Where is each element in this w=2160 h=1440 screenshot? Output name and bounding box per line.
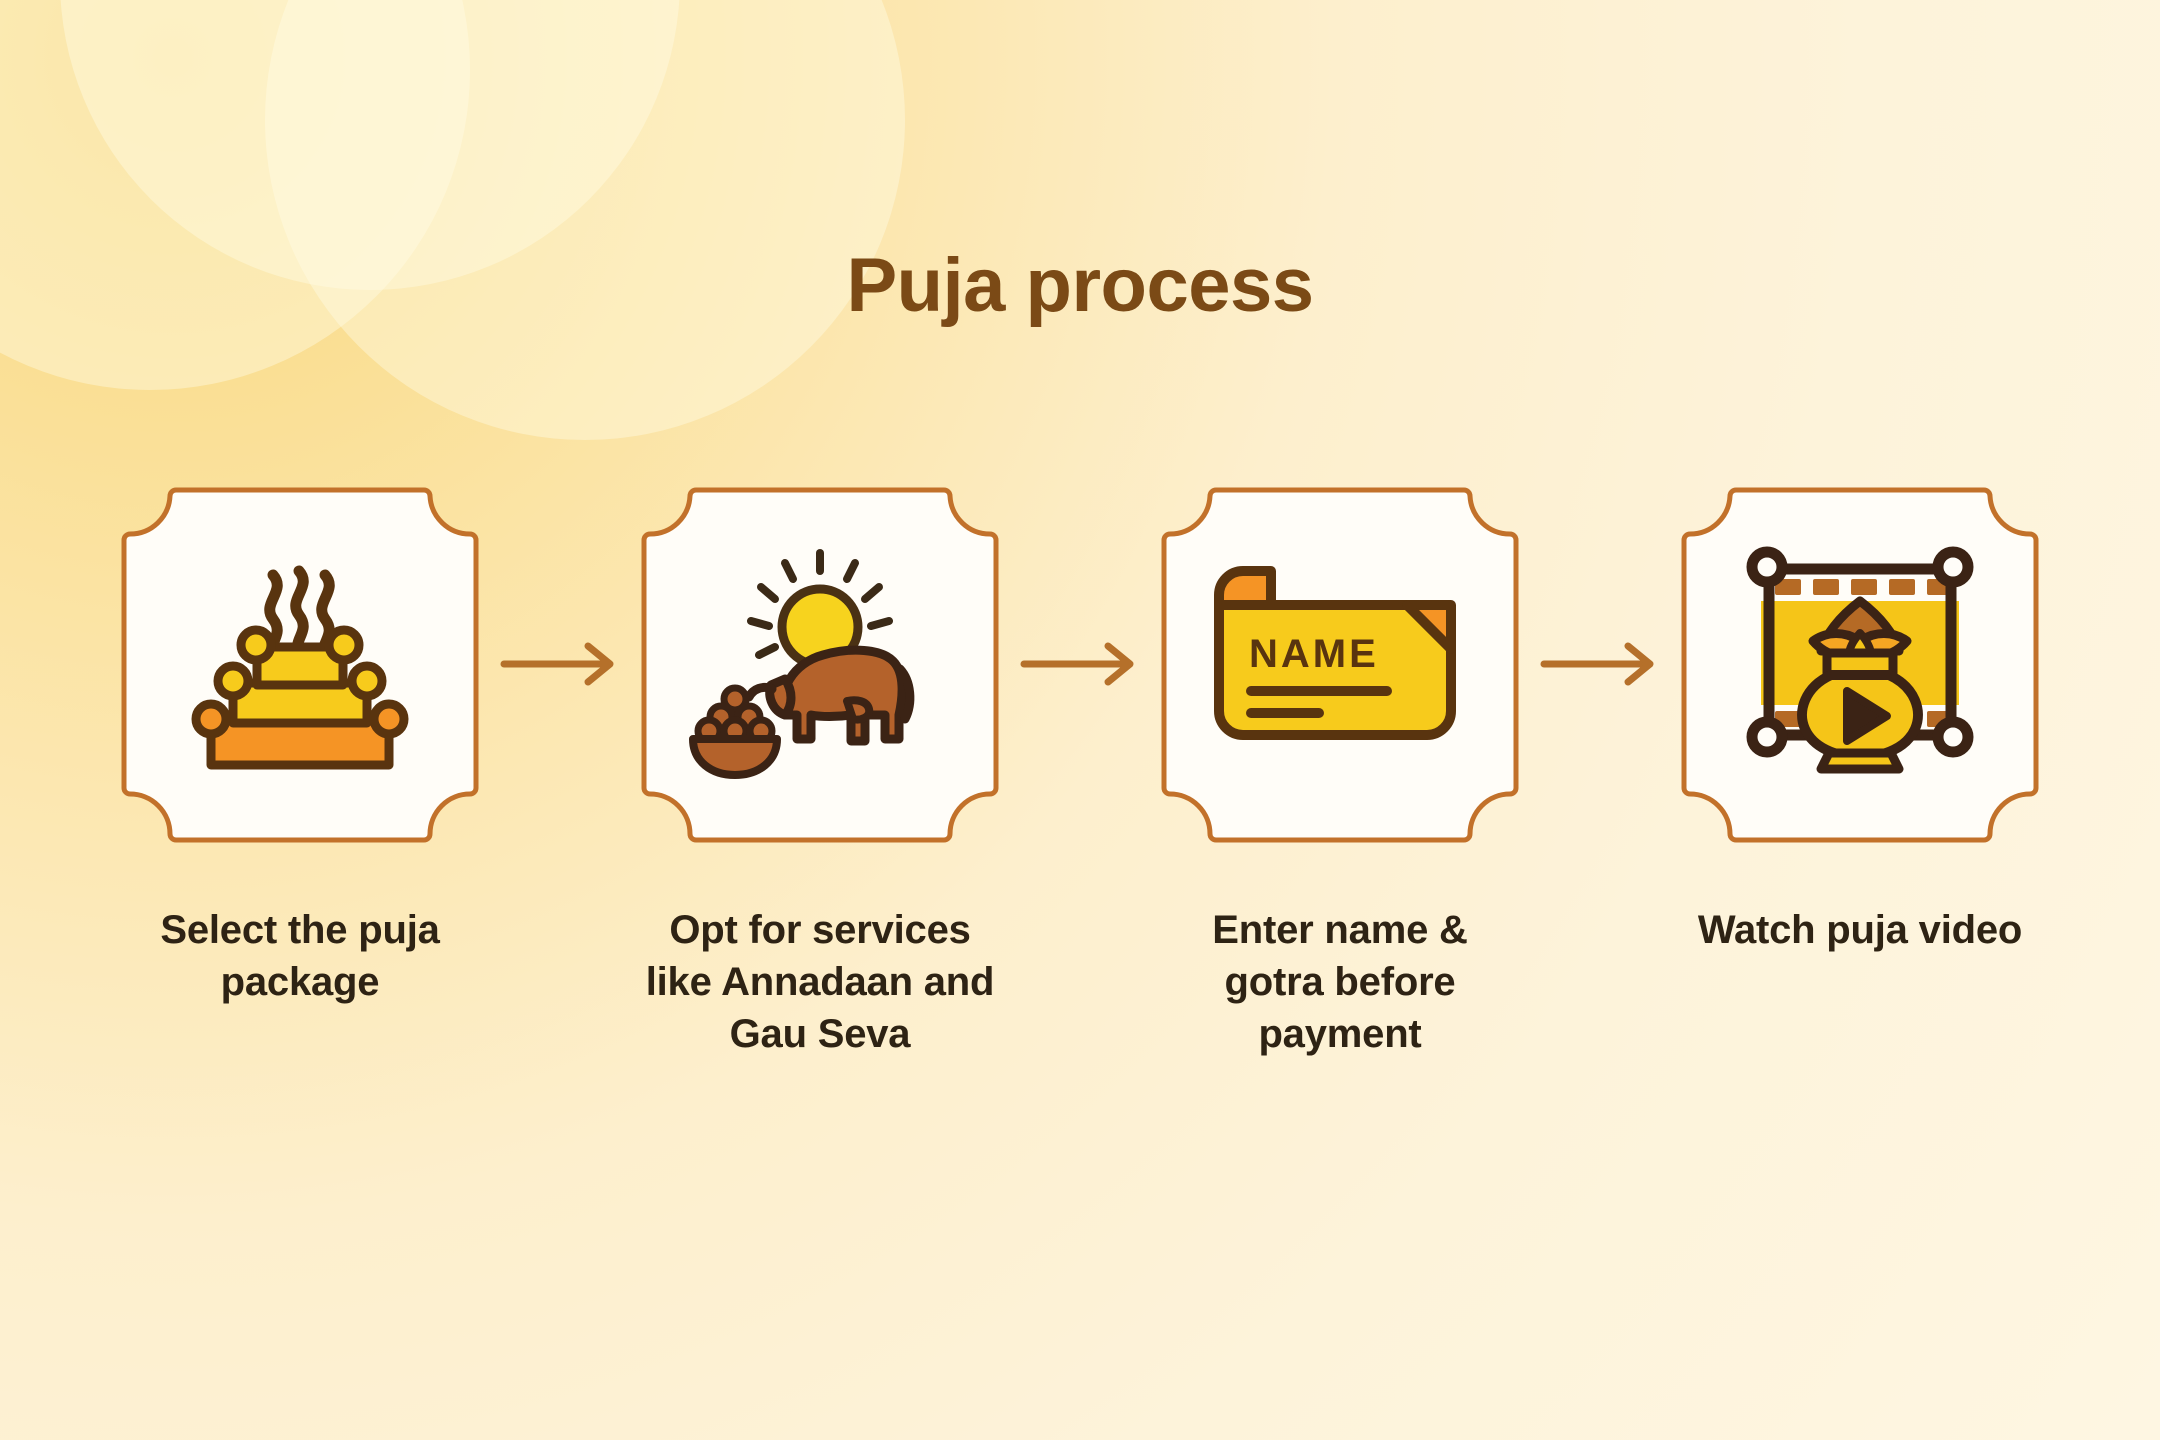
connector-arrow-2	[1004, 480, 1156, 848]
arrow-right-icon	[500, 640, 620, 688]
step-card-1[interactable]	[116, 480, 484, 848]
step-caption: Opt for services like Annadaan and Gau S…	[645, 904, 995, 1060]
decorative-circle	[0, 0, 470, 390]
connector-arrow-1	[484, 480, 636, 848]
step-caption: Select the puja package	[125, 904, 475, 1008]
step-caption: Watch puja video	[1685, 904, 2035, 956]
step-caption: Enter name & gotra before payment	[1165, 904, 1515, 1060]
puja-video-icon	[1678, 482, 2042, 846]
step-card-3[interactable]: NAME	[1156, 480, 1524, 848]
gau-seva-icon	[638, 482, 1002, 846]
name-form-icon: NAME	[1158, 482, 1522, 846]
step-card-4[interactable]	[1676, 480, 2044, 848]
step-card-2[interactable]	[636, 480, 1004, 848]
puja-process-infographic: Puja process	[0, 0, 2160, 1440]
page-title: Puja process	[0, 248, 2160, 324]
process-step-opt-for-services[interactable]: Opt for services like Annadaan and Gau S…	[636, 480, 1004, 1060]
arrow-right-icon	[1540, 640, 1660, 688]
name-label: NAME	[1249, 632, 1379, 676]
process-step-select-puja-package[interactable]: Select the puja package	[116, 480, 484, 1008]
arrow-right-icon	[1020, 640, 1140, 688]
havan-kund-icon	[118, 482, 482, 846]
process-flow: Select the puja package	[0, 480, 2160, 1060]
process-step-watch-puja-video[interactable]: Watch puja video	[1676, 480, 2044, 956]
connector-arrow-3	[1524, 480, 1676, 848]
process-step-enter-name-gotra[interactable]: NAME Enter name & gotra before payment	[1156, 480, 1524, 1060]
decorative-circle	[60, 0, 680, 290]
decorative-circle	[265, 0, 905, 440]
